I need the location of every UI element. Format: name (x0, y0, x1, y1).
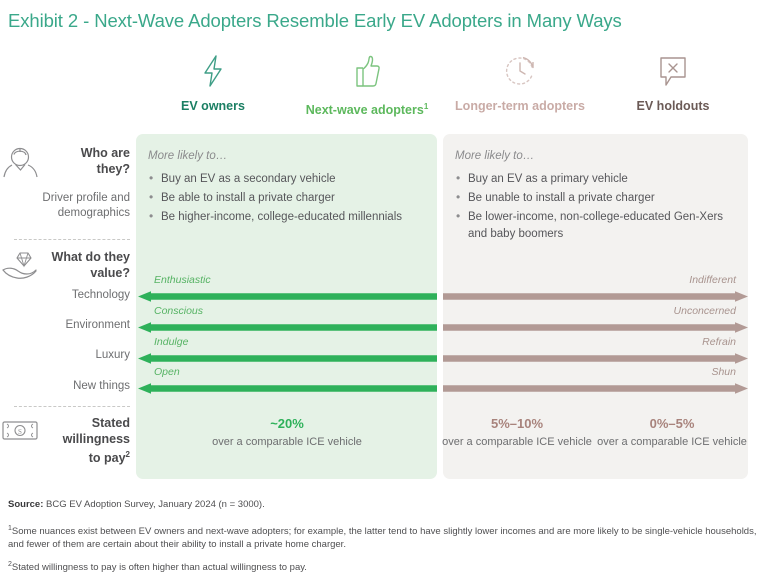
willingness-sub-longer-term: over a comparable ICE vehicle (432, 435, 602, 450)
list-item: Be unable to install a private charger (455, 190, 743, 207)
arrow-label-right-new-things: Shun (711, 366, 736, 378)
willingness-value-ev-owners: ~20% (202, 415, 372, 432)
willingness-cell-ev-owners: ~20% over a comparable ICE vehicle (202, 415, 372, 450)
willingness-cell-longer-term: 5%–10% over a comparable ICE vehicle (432, 415, 602, 450)
source-text: BCG EV Adoption Survey, January 2024 (n … (43, 499, 264, 510)
footnote-1: 1Some nuances exist between EV owners an… (8, 522, 760, 551)
arrow-label-right-environment: Unconcerned (674, 305, 736, 317)
list-item: Be higher-income, college-educated mille… (148, 209, 428, 226)
sidebar-section-willingness-to-pay: S Stated willingness to pay2 (0, 416, 130, 467)
more-likely-to-label-right: More likely to… (455, 150, 743, 162)
column-headers: EV owners Next-wave adopters1 Longer-ter… (136, 52, 750, 128)
clock-icon (503, 52, 537, 90)
sidebar-row-new-things: New things (0, 380, 130, 392)
sidebar-section-what-do-they-value-header: What do they value? (0, 250, 130, 287)
list-item: Buy an EV as a secondary vehicle (148, 171, 428, 188)
bullet-list-left: Buy an EV as a secondary vehicle Be able… (148, 171, 428, 226)
who-are-they-left-content: More likely to… Buy an EV as a secondary… (148, 150, 428, 228)
sidebar-subtitle-driver-profile: Driver profile and demographics (0, 191, 130, 221)
sidebar: Who are they? Driver profile and demogra… (0, 134, 130, 482)
arrow-label-left-new-things: Open (154, 366, 180, 378)
sidebar-row-environment: Environment (0, 319, 130, 331)
bullet-list-right: Buy an EV as a primary vehicle Be unable… (455, 171, 743, 243)
page-title: Exhibit 2 - Next-Wave Adopters Resemble … (8, 10, 622, 32)
sidebar-section-what-do-they-value: What do they value? (0, 250, 130, 287)
column-header-longer-term-adopters: Longer-term adopters (443, 52, 597, 114)
arrow-label-right-luxury: Refrain (702, 336, 736, 348)
who-are-they-right-content: More likely to… Buy an EV as a primary v… (455, 150, 743, 245)
column-header-ev-holdouts: EV holdouts (596, 52, 750, 114)
sidebar-title-willingness-footnote: 2 (126, 450, 130, 459)
willingness-sub-ev-owners: over a comparable ICE vehicle (202, 435, 372, 450)
person-profile-icon (0, 146, 42, 185)
arrow-label-left-luxury: Indulge (154, 336, 188, 348)
bidirectional-arrow-icon (136, 382, 750, 396)
column-label-longer-term-adopters: Longer-term adopters (455, 99, 585, 114)
list-item: Be lower-income, non-college-educated Ge… (455, 209, 743, 243)
hand-diamond-icon (0, 250, 42, 287)
bidirectional-arrow-icon (136, 352, 750, 366)
willingness-value-longer-term: 5%–10% (432, 415, 602, 432)
sidebar-title-willingness-to-pay-text: Stated willingness to pay (63, 416, 130, 465)
value-arrow-technology: Enthusiastic Indifferent (136, 274, 750, 304)
column-label-ev-owners: EV owners (181, 99, 245, 114)
column-header-next-wave-adopters: Next-wave adopters1 (290, 52, 444, 118)
speech-bubble-x-icon (657, 52, 689, 90)
footnote-2-text: Stated willingness to pay is often highe… (12, 562, 307, 573)
sidebar-divider-1 (14, 239, 130, 240)
sidebar-row-luxury: Luxury (0, 349, 130, 361)
lightning-bolt-icon (200, 52, 226, 90)
list-item: Be able to install a private charger (148, 190, 428, 207)
sidebar-title-who-are-they: Who are they? (48, 146, 130, 177)
value-arrow-environment: Conscious Unconcerned (136, 305, 750, 335)
sidebar-divider-2 (14, 406, 130, 407)
willingness-cell-holdouts: 0%–5% over a comparable ICE vehicle (587, 415, 757, 450)
value-arrow-new-things: Open Shun (136, 366, 750, 396)
willingness-value-holdouts: 0%–5% (587, 415, 757, 432)
sidebar-section-who-are-they: Who are they? Driver profile and demogra… (0, 146, 130, 221)
sidebar-section-who-are-they-header: Who are they? (0, 146, 130, 185)
sidebar-title-what-do-they-value: What do they value? (48, 250, 130, 281)
thumbs-up-icon (353, 52, 381, 90)
column-header-ev-owners: EV owners (136, 52, 290, 114)
source-label: Source: (8, 499, 43, 510)
source-note: Source: BCG EV Adoption Survey, January … (8, 498, 760, 511)
arrow-label-right-technology: Indifferent (689, 274, 736, 286)
column-label-ev-holdouts: EV holdouts (637, 99, 710, 114)
bidirectional-arrow-icon (136, 290, 750, 304)
more-likely-to-label-left: More likely to… (148, 150, 428, 162)
footnote-2: 2Stated willingness to pay is often high… (8, 558, 760, 574)
banknote-icon: S (0, 416, 42, 449)
sidebar-title-willingness-to-pay: Stated willingness to pay2 (48, 416, 130, 467)
column-label-next-wave-adopters-text: Next-wave adopters (306, 103, 424, 117)
svg-text:S: S (18, 428, 22, 436)
bidirectional-arrow-icon (136, 321, 750, 335)
sidebar-section-willingness-to-pay-header: S Stated willingness to pay2 (0, 416, 130, 467)
arrow-label-left-technology: Enthusiastic (154, 274, 211, 286)
list-item: Buy an EV as a primary vehicle (455, 171, 743, 188)
footnote-1-text: Some nuances exist between EV owners and… (8, 526, 756, 550)
willingness-sub-holdouts: over a comparable ICE vehicle (587, 435, 757, 450)
column-label-next-wave-adopters-footnote: 1 (424, 102, 428, 111)
arrow-label-left-environment: Conscious (154, 305, 203, 317)
column-label-next-wave-adopters: Next-wave adopters1 (306, 99, 429, 118)
value-arrow-luxury: Indulge Refrain (136, 336, 750, 366)
sidebar-row-technology: Technology (0, 289, 130, 301)
